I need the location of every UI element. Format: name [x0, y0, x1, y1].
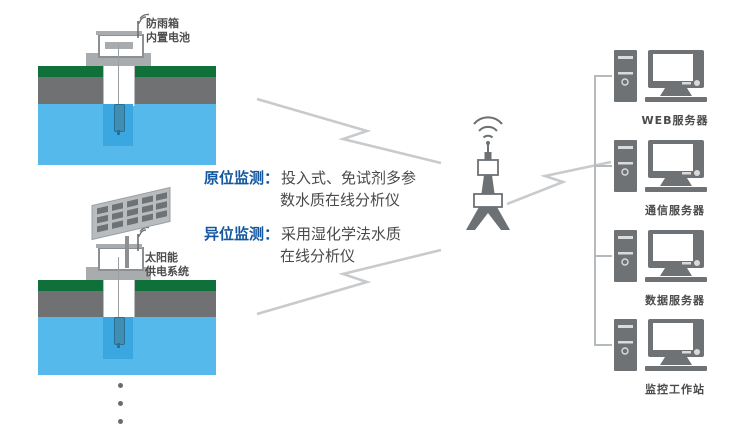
- diagram-canvas: 防雨箱 内置电池: [0, 0, 750, 440]
- sensor-cable: [118, 44, 119, 106]
- bore-shaft: [103, 66, 135, 106]
- water-probe: [114, 104, 125, 132]
- legend-row-ex-situ: 异位监测： 采用湿化学法水质: [204, 224, 444, 244]
- node-label-comm-server: 通信服务器: [610, 202, 740, 218]
- legend-value-ex-situ-line1: 采用湿化学法水质: [281, 224, 401, 244]
- continuation-dots: [118, 383, 123, 437]
- communication-tower: [448, 100, 528, 230]
- node-monitor-station[interactable]: [612, 317, 732, 375]
- server-workstation-icon: [612, 228, 730, 286]
- rf-link-top-icon: [255, 95, 445, 165]
- dot: [118, 383, 123, 388]
- well-top-label-line1: 防雨箱: [146, 18, 179, 30]
- legend-value-ex-situ-line2: 在线分析仪: [280, 246, 355, 266]
- legend-value-in-situ-line2: 数水质在线分析仪: [280, 190, 400, 210]
- node-label-data-server: 数据服务器: [610, 292, 740, 308]
- well-top-label-line2: 内置电池: [146, 32, 190, 44]
- legend-key-in-situ: 原位监测：: [204, 168, 279, 188]
- bore-shaft: [103, 280, 135, 317]
- node-label-web-server: WEB服务器: [610, 112, 740, 128]
- node-comm-server[interactable]: [612, 138, 732, 196]
- water-probe-tip: [117, 343, 120, 348]
- server-workstation-icon: [612, 138, 730, 196]
- branch-line-data: [594, 255, 612, 257]
- legend-row-in-situ: 原位监测： 投入式、免试剂多参: [204, 168, 444, 188]
- branch-line-comm: [594, 165, 612, 167]
- node-web-server[interactable]: [612, 48, 732, 106]
- network-bus-line: [594, 75, 596, 345]
- legend-row-ex-situ-cont: 在线分析仪: [204, 246, 444, 266]
- legend-text-block: 原位监测： 投入式、免试剂多参 数水质在线分析仪 异位监测： 采用湿化学法水质 …: [204, 168, 444, 268]
- water-probe-tip: [117, 130, 120, 135]
- legend-row-in-situ-cont: 数水质在线分析仪: [204, 190, 444, 210]
- node-data-server[interactable]: [612, 228, 732, 286]
- solar-panel: [90, 192, 176, 244]
- server-workstation-icon: [612, 48, 730, 106]
- legend-value-in-situ-line1: 投入式、免试剂多参: [281, 168, 416, 188]
- wifi-waves-icon: [474, 117, 502, 137]
- sensor-cable: [118, 257, 119, 319]
- well-bottom-label-line1: 太阳能: [145, 252, 178, 264]
- branch-line-station: [594, 344, 612, 346]
- dot: [118, 419, 123, 424]
- battery-block: [105, 42, 133, 49]
- branch-line-web: [594, 75, 612, 77]
- water-probe: [114, 317, 125, 345]
- server-workstation-icon: [612, 317, 730, 375]
- solar-panel-mast: [125, 236, 129, 268]
- well-bottom-label-line2: 供电系统: [145, 266, 189, 278]
- node-label-monitor-station: 监控工作站: [610, 381, 740, 397]
- dot: [118, 401, 123, 406]
- legend-key-ex-situ: 异位监测：: [204, 224, 279, 244]
- well-bottom-scene: [38, 255, 216, 375]
